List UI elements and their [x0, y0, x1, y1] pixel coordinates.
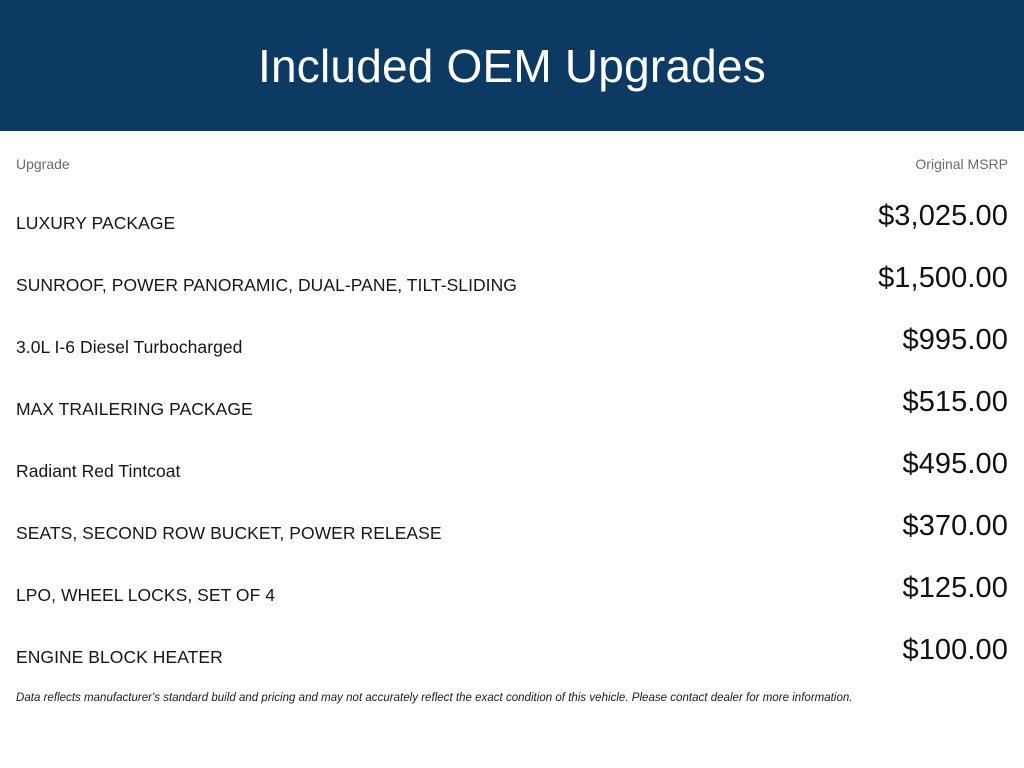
- page-header-banner: Included OEM Upgrades: [0, 0, 1024, 131]
- disclaimer-text: Data reflects manufacturer's standard bu…: [0, 675, 1024, 706]
- upgrade-price: $1,500.00: [878, 264, 1008, 297]
- page-title: Included OEM Upgrades: [258, 43, 766, 89]
- upgrade-price: $995.00: [902, 326, 1008, 359]
- upgrade-label: Radiant Red Tintcoat: [16, 460, 180, 483]
- upgrade-label: LUXURY PACKAGE: [16, 212, 175, 235]
- upgrade-price: $515.00: [902, 388, 1008, 421]
- upgrade-label: ENGINE BLOCK HEATER: [16, 646, 223, 669]
- column-header-original-msrp: Original MSRP: [915, 157, 1008, 171]
- oem-upgrades-page: Included OEM Upgrades Upgrade Original M…: [0, 0, 1024, 768]
- upgrade-label: LPO, WHEEL LOCKS, SET OF 4: [16, 584, 275, 607]
- upgrade-price: $100.00: [902, 636, 1008, 669]
- upgrade-label: MAX TRAILERING PACKAGE: [16, 398, 253, 421]
- upgrade-label: 3.0L I-6 Diesel Turbocharged: [16, 336, 242, 359]
- table-row: SEATS, SECOND ROW BUCKET, POWER RELEASE …: [16, 489, 1008, 551]
- table-row: LUXURY PACKAGE $3,025.00: [16, 179, 1008, 241]
- upgrade-price: $370.00: [902, 512, 1008, 545]
- upgrade-price: $125.00: [902, 574, 1008, 607]
- upgrade-price: $495.00: [902, 450, 1008, 483]
- table-row: ENGINE BLOCK HEATER $100.00: [16, 613, 1008, 675]
- table-row: LPO, WHEEL LOCKS, SET OF 4 $125.00: [16, 551, 1008, 613]
- table-row: Radiant Red Tintcoat $495.00: [16, 427, 1008, 489]
- table-row: 3.0L I-6 Diesel Turbocharged $995.00: [16, 303, 1008, 365]
- table-column-headers: Upgrade Original MSRP: [16, 131, 1008, 179]
- upgrade-price: $3,025.00: [878, 202, 1008, 235]
- upgrades-table: Upgrade Original MSRP LUXURY PACKAGE $3,…: [0, 131, 1024, 675]
- column-header-upgrade: Upgrade: [16, 157, 70, 171]
- table-row: MAX TRAILERING PACKAGE $515.00: [16, 365, 1008, 427]
- upgrade-label: SEATS, SECOND ROW BUCKET, POWER RELEASE: [16, 522, 442, 545]
- upgrade-label: SUNROOF, POWER PANORAMIC, DUAL-PANE, TIL…: [16, 274, 517, 297]
- table-row: SUNROOF, POWER PANORAMIC, DUAL-PANE, TIL…: [16, 241, 1008, 303]
